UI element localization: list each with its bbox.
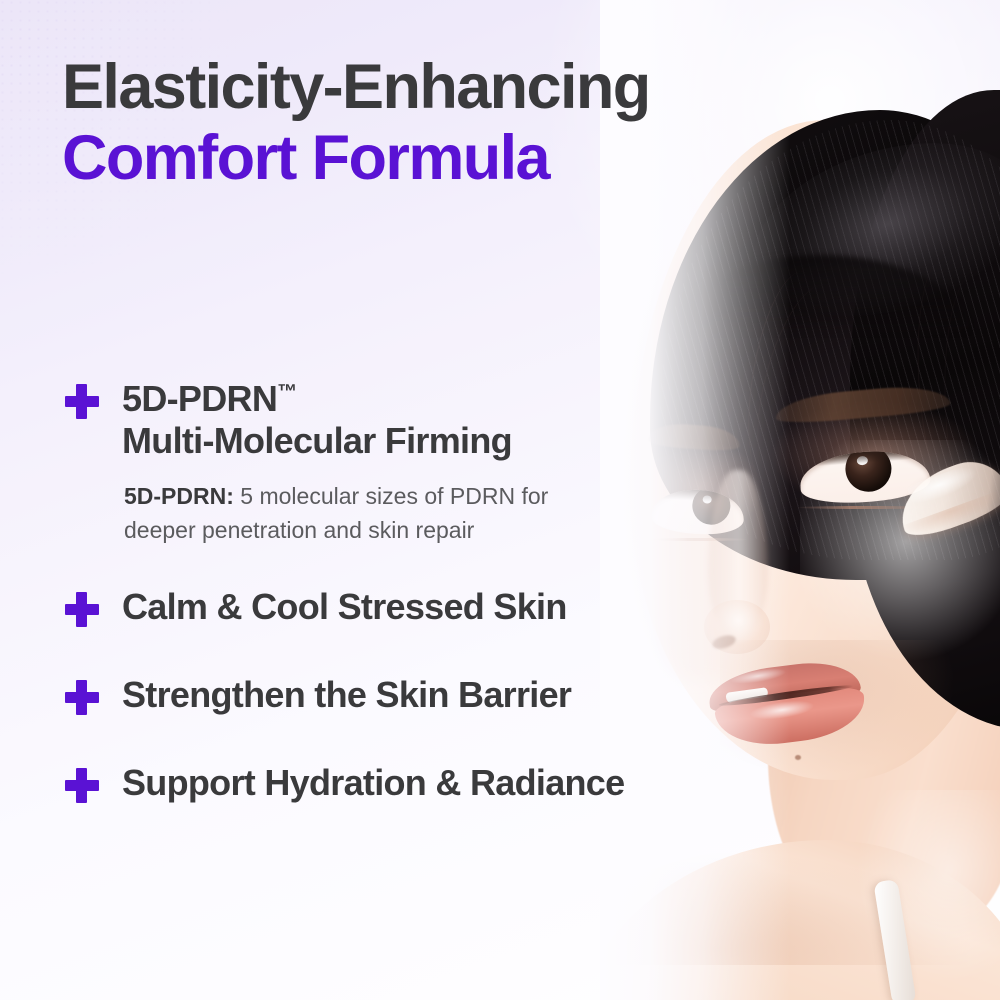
plus-icon xyxy=(62,590,102,630)
feature-description: 5D-PDRN: 5 molecular sizes of PDRN for d… xyxy=(124,479,574,549)
feature-description-label: 5D-PDRN: xyxy=(124,483,234,509)
feature-item-hydration: Support Hydration & Radiance xyxy=(62,762,782,806)
feature-body: Calm & Cool Stressed Skin xyxy=(122,586,782,628)
feature-body: 5D-PDRN™ Multi-Molecular Firming 5D-PDRN… xyxy=(122,378,782,548)
feature-item-calm: Calm & Cool Stressed Skin xyxy=(62,586,782,630)
trademark-icon: ™ xyxy=(277,381,297,403)
plus-icon xyxy=(62,766,102,806)
feature-title: Calm & Cool Stressed Skin xyxy=(122,586,782,628)
feature-item-barrier: Strengthen the Skin Barrier xyxy=(62,674,782,718)
skincare-feature-banner: Elasticity-Enhancing Comfort Formula 5D-… xyxy=(0,0,1000,1000)
banner-content: Elasticity-Enhancing Comfort Formula 5D-… xyxy=(0,0,1000,1000)
headline: Elasticity-Enhancing Comfort Formula xyxy=(62,52,842,193)
headline-line-2: Comfort Formula xyxy=(62,123,842,194)
feature-title-text: 5D-PDRN xyxy=(122,378,277,419)
headline-line-1: Elasticity-Enhancing xyxy=(62,52,842,123)
feature-item-pdrn: 5D-PDRN™ Multi-Molecular Firming 5D-PDRN… xyxy=(62,378,782,548)
feature-title: 5D-PDRN™ Multi-Molecular Firming xyxy=(122,378,782,462)
plus-icon xyxy=(62,382,102,422)
feature-title: Support Hydration & Radiance xyxy=(122,762,782,804)
feature-body: Support Hydration & Radiance xyxy=(122,762,782,804)
feature-body: Strengthen the Skin Barrier xyxy=(122,674,782,716)
feature-title-line-2: Multi-Molecular Firming xyxy=(122,420,782,462)
plus-icon xyxy=(62,678,102,718)
feature-list: 5D-PDRN™ Multi-Molecular Firming 5D-PDRN… xyxy=(62,378,782,806)
feature-title: Strengthen the Skin Barrier xyxy=(122,674,782,716)
